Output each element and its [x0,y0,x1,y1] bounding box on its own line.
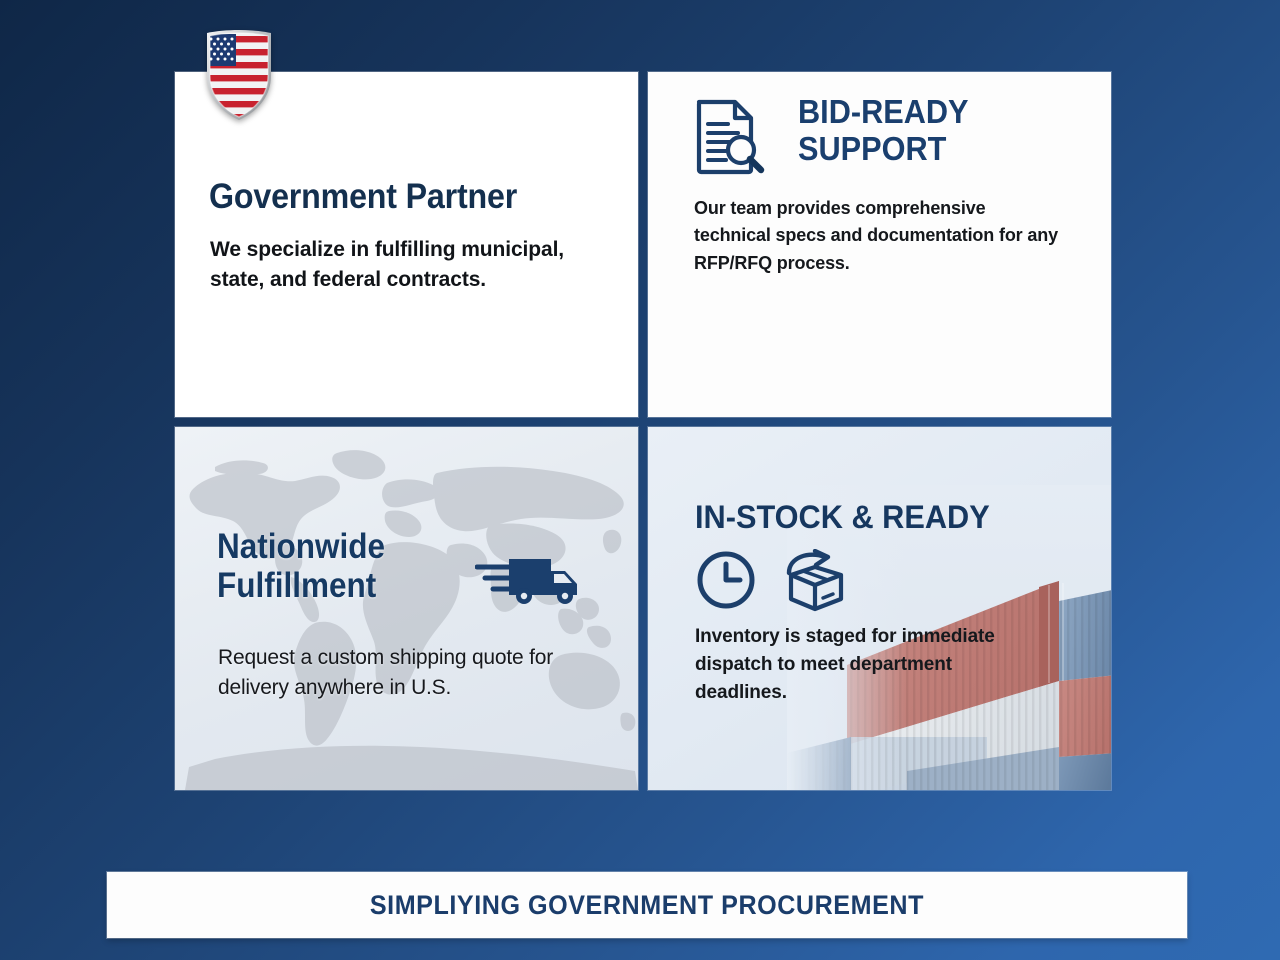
bottom-banner[interactable]: SIMPLIYING GOVERNMENT PROCUREMENT [107,872,1187,938]
card-heading-bid-ready-support: BID-READY SUPPORT [798,94,969,168]
delivery-truck-icon [475,549,585,605]
card-heading-government-partner: Government Partner [209,177,517,217]
clock-icon [695,549,757,611]
heading-line-1: BID-READY [798,93,969,130]
document-magnifier-icon [694,98,766,176]
card-in-stock-and-ready[interactable]: IN-STOCK & READY Inventory is staged for… [648,427,1111,790]
heading-line-1: Nationwide [217,527,385,566]
card-body-nationwide-fulfillment: Request a custom shipping quote for deli… [218,643,618,703]
banner-text: SIMPLIYING GOVERNMENT PROCUREMENT [370,890,924,921]
card-government-partner[interactable]: Government Partner We specialize in fulf… [175,72,638,417]
card-icon-row [695,549,855,615]
card-nationwide-fulfillment[interactable]: Nationwide Fulfillment Request a custom … [175,427,638,790]
card-heading-nationwide-fulfillment: Nationwide Fulfillment [217,527,385,605]
card-body-bid-ready-support: Our team provides comprehensive technica… [694,195,1064,277]
card-heading-in-stock-and-ready: IN-STOCK & READY [695,499,990,536]
slide-canvas: Government Partner We specialize in fulf… [0,0,1280,960]
card-body-in-stock-and-ready: Inventory is staged for immediate dispat… [695,623,1035,707]
world-map-background [175,427,638,790]
box-rotate-arrow-icon [783,549,855,615]
heading-line-2: SUPPORT [798,130,946,167]
card-body-government-partner: We specialize in fulfilling municipal, s… [210,235,610,296]
heading-line-2: Fulfillment [217,566,376,605]
us-flag-shield-icon [206,30,272,120]
card-bid-ready-support[interactable]: BID-READY SUPPORT Our team provides comp… [648,72,1111,417]
feature-card-grid: Government Partner We specialize in fulf… [175,72,1105,790]
